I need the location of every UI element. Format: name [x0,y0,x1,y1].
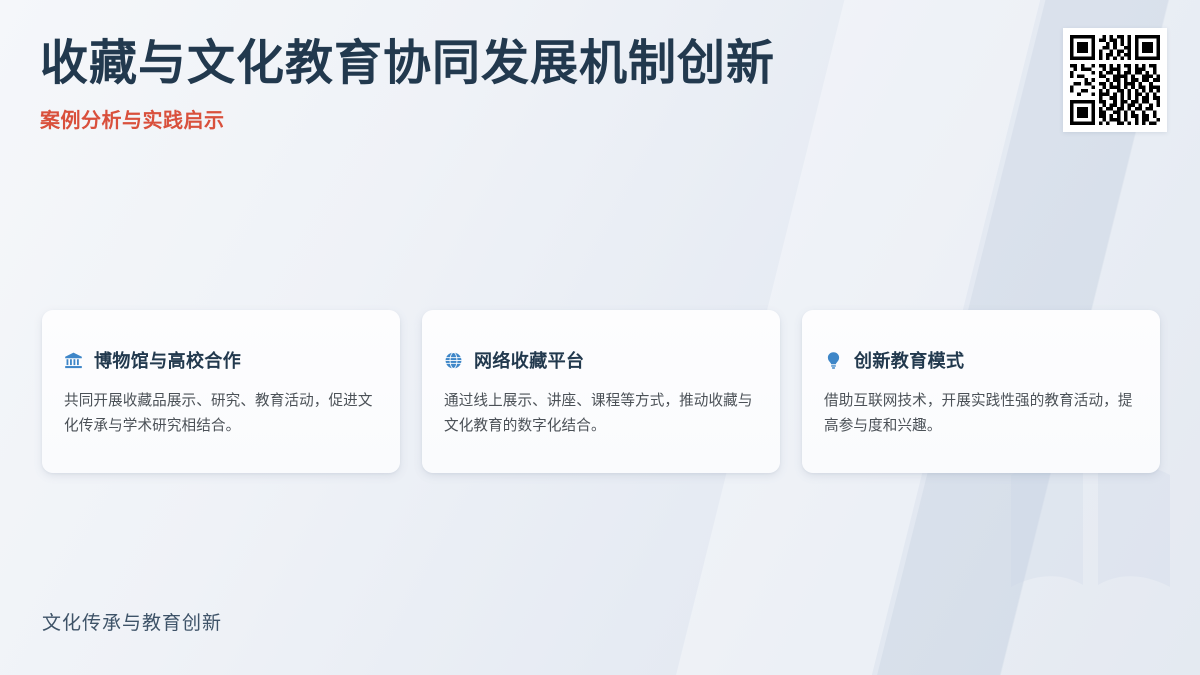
card-title: 网络收藏平台 [474,347,584,373]
classical-building-icon [64,351,83,370]
card-body-text: 借助互联网技术，开展实践性强的教育活动，提高参与度和兴趣。 [824,389,1138,439]
card-header: 网络收藏平台 [444,347,758,373]
card-header: 创新教育模式 [824,347,1138,373]
page-title: 收藏与文化教育协同发展机制创新 [40,36,775,92]
card-body-text: 通过线上展示、讲座、课程等方式，推动收藏与文化教育的数字化结合。 [444,389,758,439]
feature-card-online-platform[interactable]: 网络收藏平台 通过线上展示、讲座、课程等方式，推动收藏与文化教育的数字化结合。 [422,310,780,473]
footer-text: 文化传承与教育创新 [42,608,222,635]
card-header: 博物馆与高校合作 [64,347,378,373]
card-body-text: 共同开展收藏品展示、研究、教育活动，促进文化传承与学术研究相结合。 [64,389,378,439]
card-title: 博物馆与高校合作 [94,347,241,373]
feature-card-education-model[interactable]: 创新教育模式 借助互联网技术，开展实践性强的教育活动，提高参与度和兴趣。 [802,310,1160,473]
card-title: 创新教育模式 [854,347,964,373]
open-book-icon [1003,457,1178,607]
lightbulb-icon [824,351,843,370]
header-block: 收藏与文化教育协同发展机制创新 案例分析与实践启示 [40,36,775,133]
feature-card-list: 博物馆与高校合作 共同开展收藏品展示、研究、教育活动，促进文化传承与学术研究相结… [42,310,1160,473]
globe-icon [444,351,463,370]
page-subtitle: 案例分析与实践启示 [40,104,775,133]
qr-code[interactable] [1063,28,1167,132]
feature-card-museum-university[interactable]: 博物馆与高校合作 共同开展收藏品展示、研究、教育活动，促进文化传承与学术研究相结… [42,310,400,473]
slide-root: 收藏与文化教育协同发展机制创新 案例分析与实践启示 [0,0,1200,675]
